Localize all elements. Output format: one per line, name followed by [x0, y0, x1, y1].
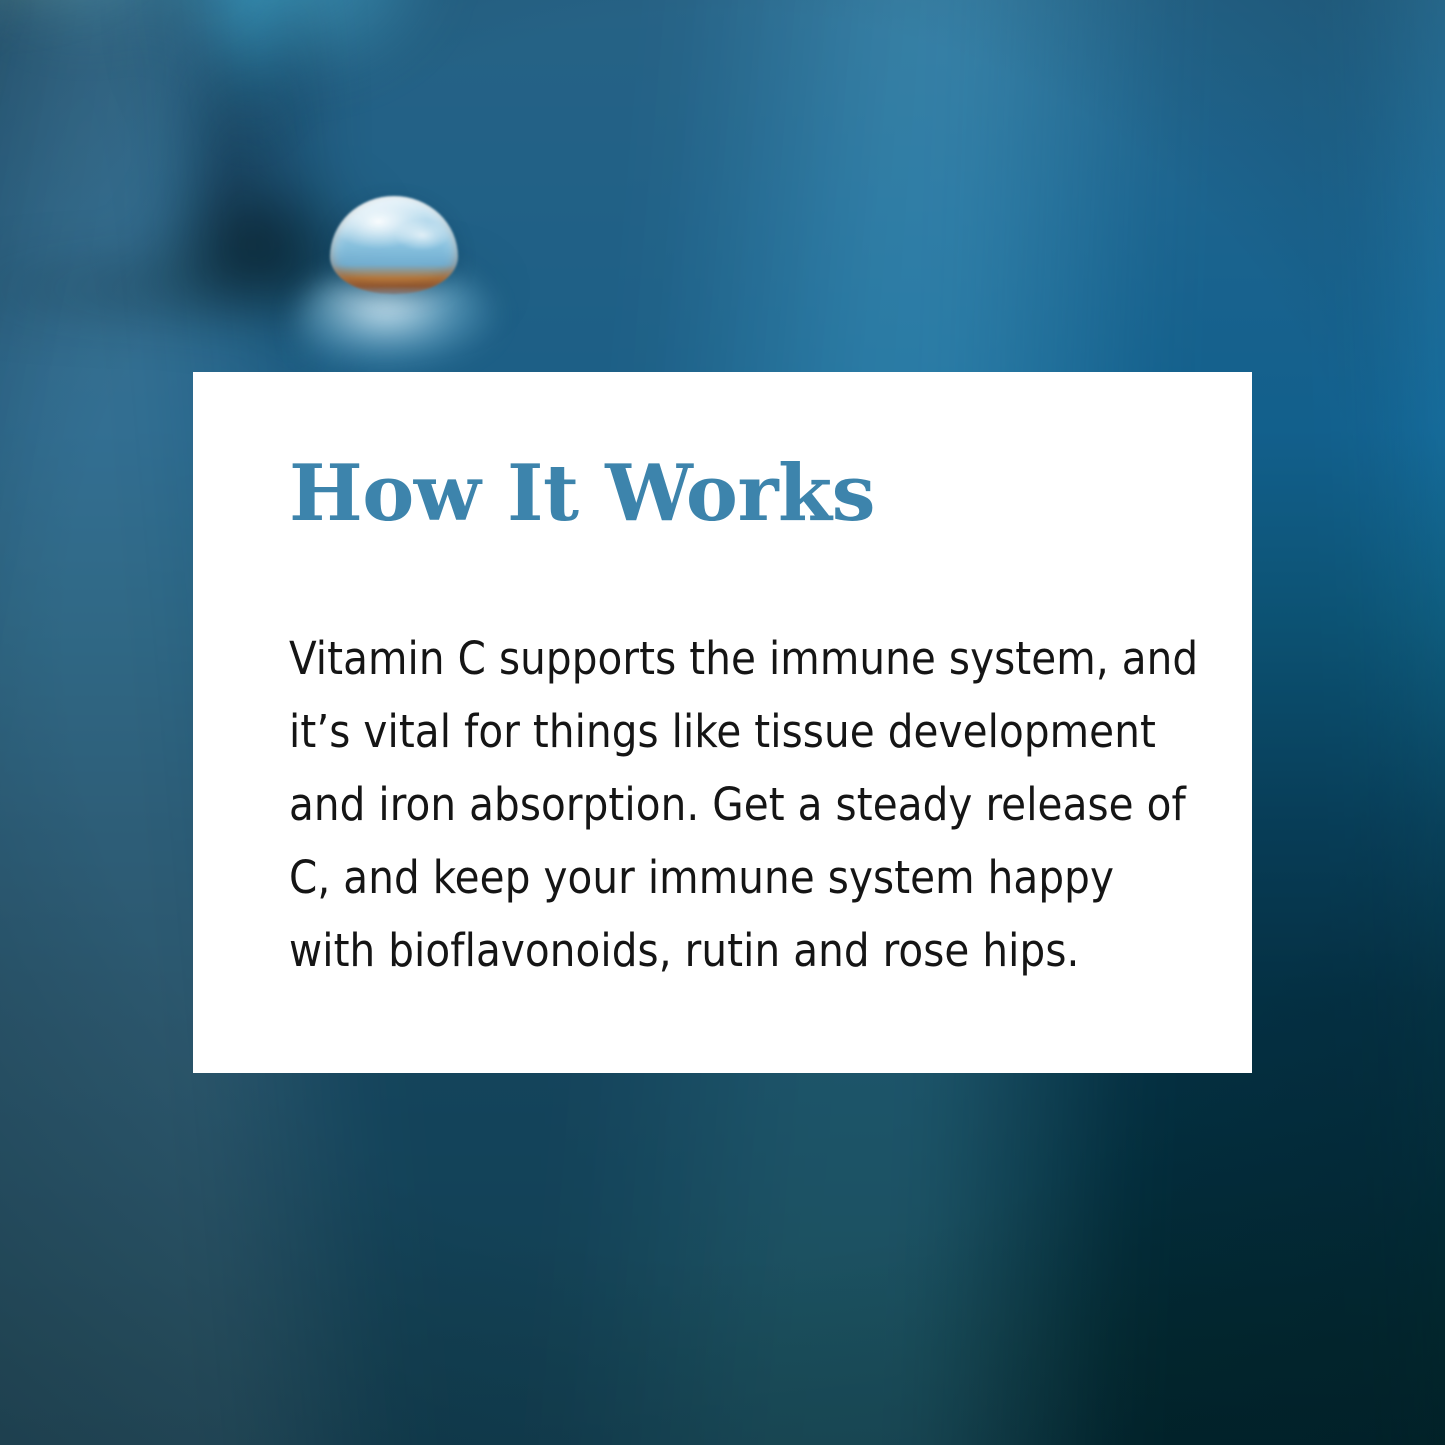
content-card: How It Works Vitamin C supports the immu…	[193, 372, 1252, 1073]
body-copy-line: C, and keep your immune system happy	[289, 841, 1199, 914]
body-copy-line: with bioflavonoids, rutin and rose hips.	[289, 914, 1199, 987]
page-title: How It Works	[289, 455, 875, 533]
body-copy-line: and iron absorption. Get a steady releas…	[289, 768, 1199, 841]
product-info-graphic: How It Works Vitamin C supports the immu…	[0, 0, 1445, 1445]
body-copy-line: Vitamin C supports the immune system, an…	[289, 622, 1199, 695]
body-copy: Vitamin C supports the immune system, an…	[289, 622, 1199, 987]
body-copy-line: it’s vital for things like tissue develo…	[289, 695, 1199, 768]
